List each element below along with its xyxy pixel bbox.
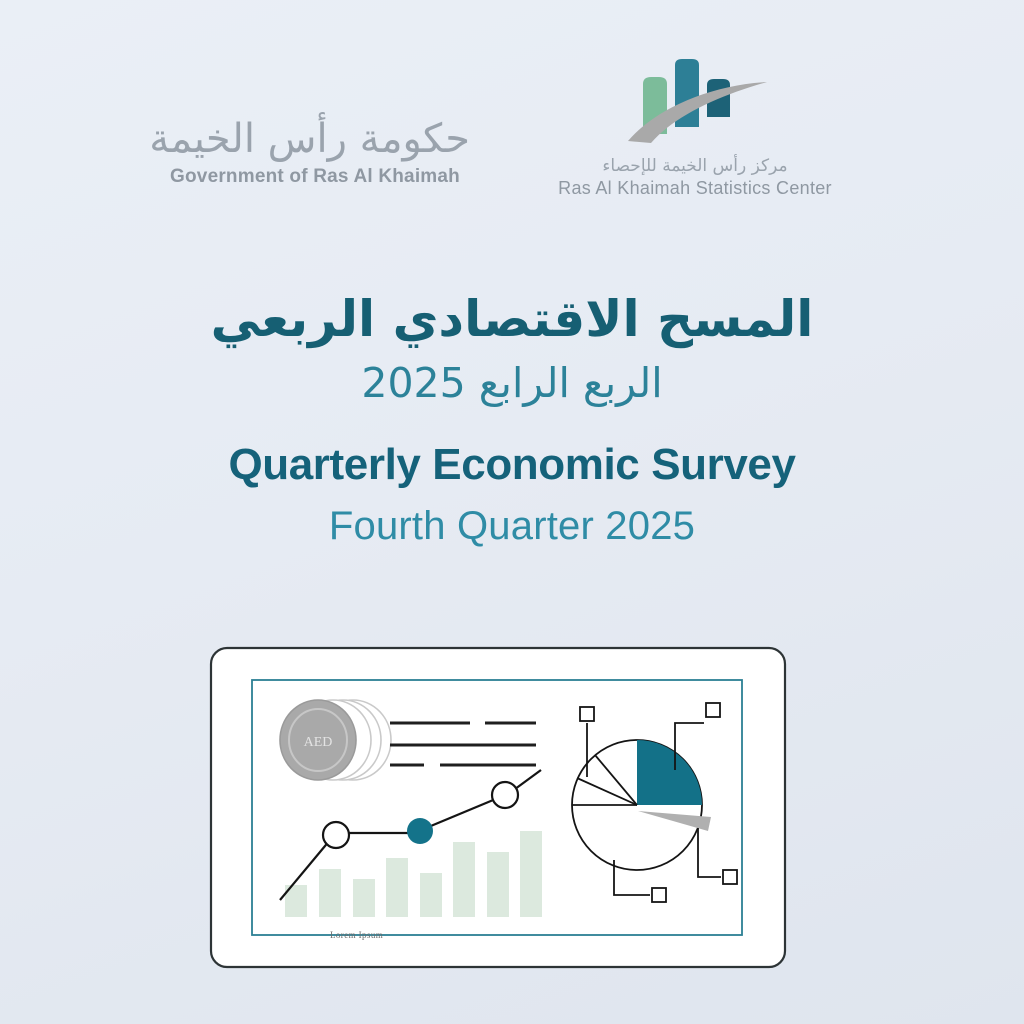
dashboard-illustration: AED bbox=[208, 645, 788, 970]
title-arabic-main: المسح الاقتصادي الربعي bbox=[0, 288, 1024, 351]
rak-logo-arabic-label: مركز رأس الخيمة للإحصاء bbox=[545, 156, 845, 176]
government-logo: حكومة رأس الخيمة Government of Ras Al Kh… bbox=[160, 118, 470, 188]
header-logos: حكومة رأس الخيمة Government of Ras Al Kh… bbox=[0, 0, 1024, 230]
government-logo-arabic-script: حكومة رأس الخيمة bbox=[160, 118, 470, 160]
svg-text:AED: AED bbox=[304, 735, 333, 750]
title-english-main: Quarterly Economic Survey bbox=[0, 440, 1024, 490]
rak-statistics-bars-icon bbox=[595, 55, 795, 150]
cover-page: حكومة رأس الخيمة Government of Ras Al Kh… bbox=[0, 0, 1024, 1024]
rak-logo-english-label: Ras Al Khaimah Statistics Center bbox=[545, 178, 845, 199]
illustration-caption: Lorem Ipsum bbox=[330, 930, 383, 940]
title-english-subtitle: Fourth Quarter 2025 bbox=[0, 504, 1024, 549]
rak-statistics-center-logo: مركز رأس الخيمة للإحصاء Ras Al Khaimah S… bbox=[545, 55, 845, 199]
title-block: المسح الاقتصادي الربعي الربع الرابع 2025… bbox=[0, 288, 1024, 549]
government-logo-english-label: Government of Ras Al Khaimah bbox=[160, 166, 470, 188]
title-arabic-subtitle: الربع الرابع 2025 bbox=[0, 357, 1024, 410]
